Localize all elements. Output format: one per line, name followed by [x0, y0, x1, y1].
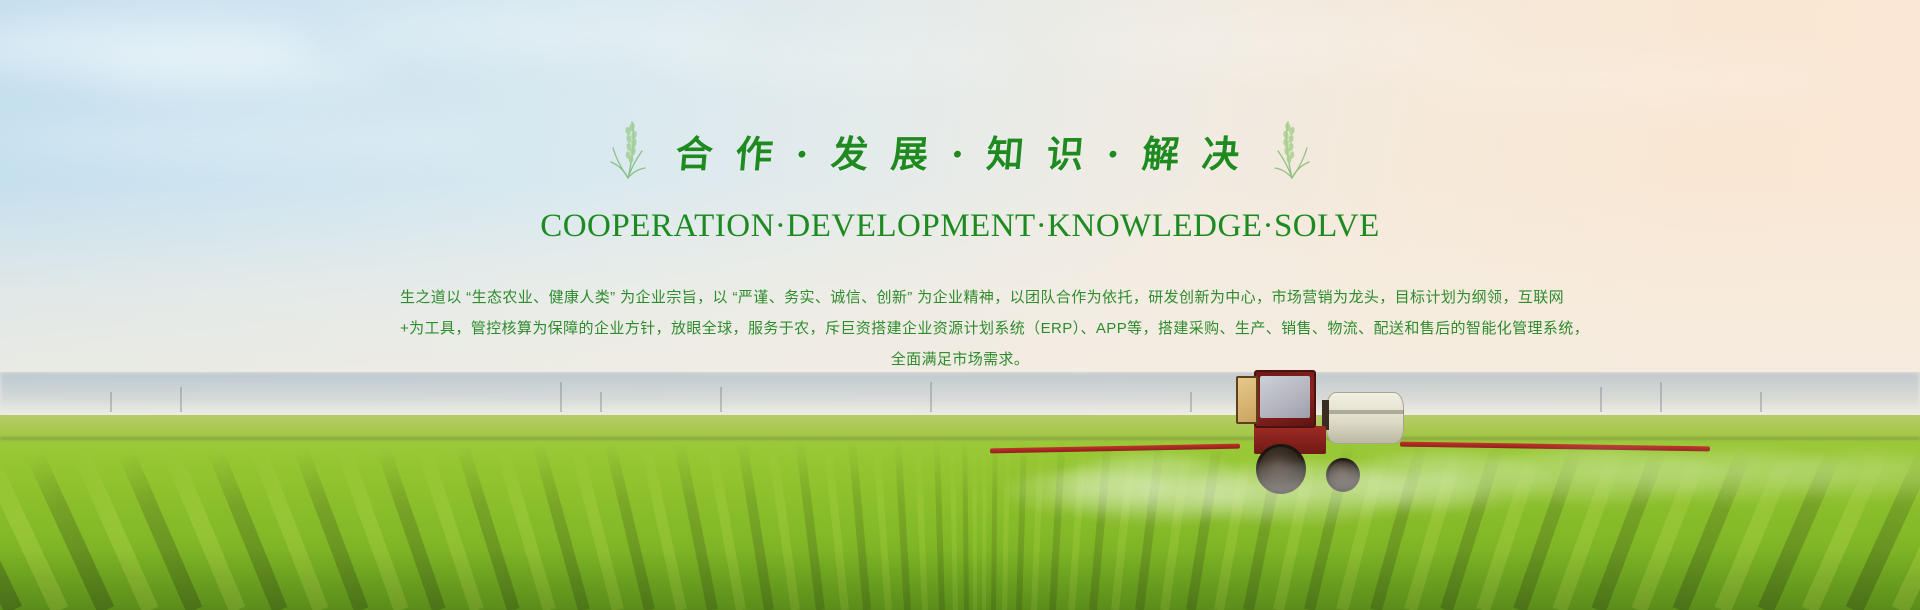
page-title: 合 作 · 发 展 · 知 识 · 解 决 — [673, 124, 1246, 178]
intro-paragraph: 生之道以 “生态农业、健康人类” 为企业宗旨，以 “严谨、务实、诚信、创新” 为… — [400, 282, 1520, 375]
paragraph-line-1: 生之道以 “生态农业、健康人类” 为企业宗旨，以 “严谨、务实、诚信、创新” 为… — [400, 282, 1520, 313]
wheat-ear-icon — [604, 118, 650, 184]
paragraph-line-2: +为工具，管控核算为保障的企业方针，放眼全球，服务于农，斥巨资搭建企业资源计划系… — [400, 313, 1520, 344]
paragraph-line-3: 全面满足市场需求。 — [400, 344, 1520, 375]
hero-banner: 合 作 · 发 展 · 知 识 · 解 决 — [0, 0, 1920, 610]
text-overlay: 合 作 · 发 展 · 知 识 · 解 决 — [0, 0, 1920, 610]
wheat-ear-icon — [1270, 118, 1316, 184]
page-subtitle: COOPERATION·DEVELOPMENT·KNOWLEDGE·SOLVE — [0, 208, 1920, 245]
title-row: 合 作 · 发 展 · 知 识 · 解 决 — [0, 118, 1920, 184]
